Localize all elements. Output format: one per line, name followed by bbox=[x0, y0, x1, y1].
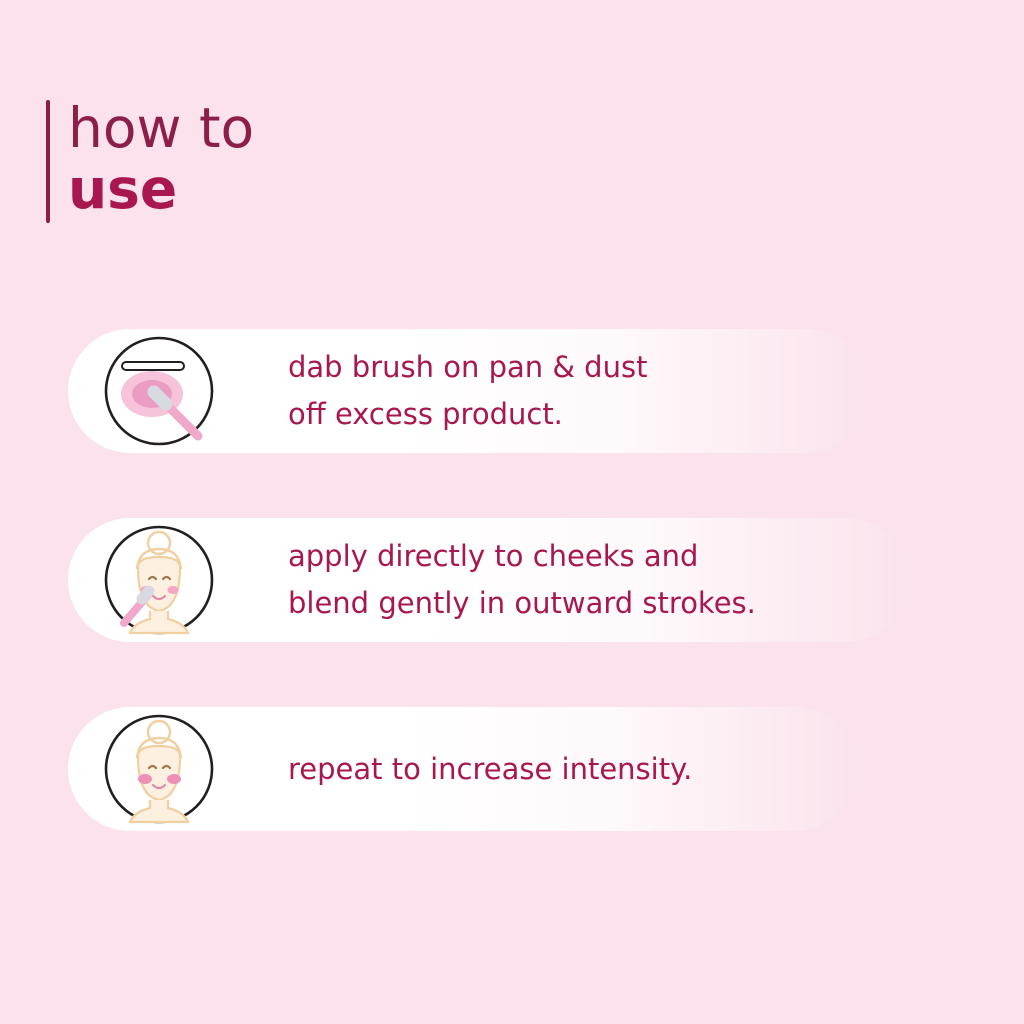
steps-list: dab brush on pan & dust off excess produ… bbox=[68, 322, 968, 889]
title-line-one: how to bbox=[68, 100, 254, 156]
list-item: dab brush on pan & dust off excess produ… bbox=[68, 322, 968, 460]
woman-face-blushed-cheeks-icon bbox=[90, 700, 228, 838]
list-item: repeat to increase intensity. bbox=[68, 700, 968, 838]
title-accent-bar bbox=[46, 100, 50, 223]
title-line-two: use bbox=[68, 156, 254, 223]
title-text-group: how to use bbox=[68, 100, 254, 223]
page-title: how to use bbox=[46, 100, 254, 223]
list-item: apply directly to cheeks and blend gentl… bbox=[68, 511, 968, 649]
compact-blush-with-brush-icon bbox=[90, 322, 228, 460]
step-text: apply directly to cheeks and blend gentl… bbox=[288, 511, 756, 649]
step-text: repeat to increase intensity. bbox=[288, 700, 692, 838]
woman-face-applying-blush-icon bbox=[90, 511, 228, 649]
step-text: dab brush on pan & dust off excess produ… bbox=[288, 322, 647, 460]
